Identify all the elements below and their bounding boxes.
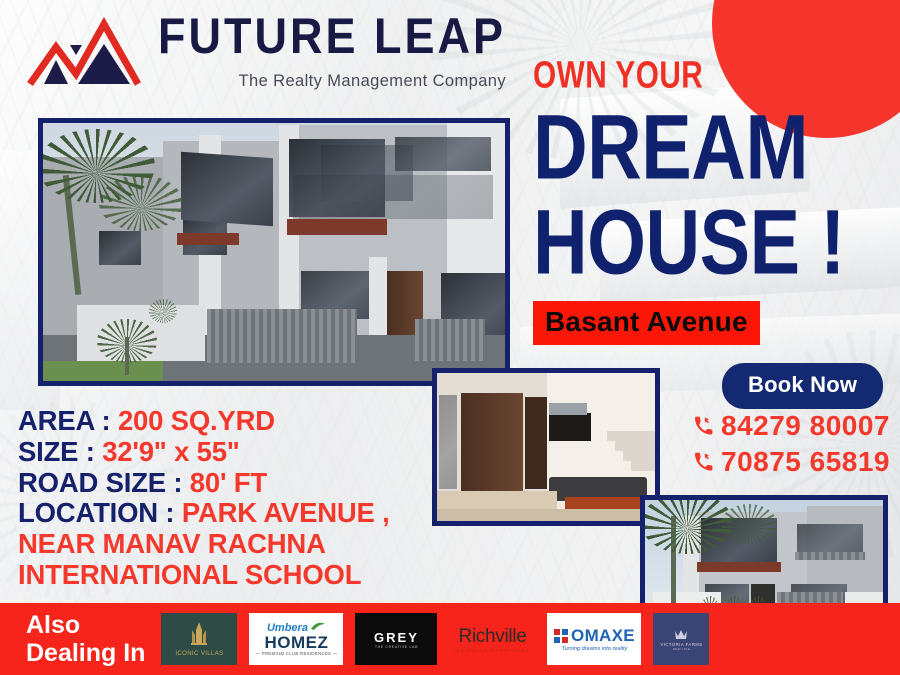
detail-label: SIZE : [18, 436, 95, 467]
phone-handset-icon [694, 451, 713, 473]
detail-row-location: LOCATION : PARK AVENUE , [18, 498, 390, 529]
detail-value: 32'9" x 55" [102, 436, 239, 467]
real-estate-advertisement-poster: FUTURE LEAP The Realty Management Compan… [0, 0, 900, 675]
omaxe-squares-icon [554, 629, 568, 643]
phone-number-row[interactable]: 70875 65819 [694, 444, 890, 480]
location-line-3: INTERNATIONAL SCHOOL [18, 560, 390, 591]
partner-logo-richville[interactable]: Richville WE BUILD HAPPINESS [449, 613, 535, 665]
partner-name: HOMEZ [265, 634, 329, 651]
detail-row-area: AREA : 200 SQ.YRD [18, 406, 390, 437]
also-dealing-in-label: Also Dealing In [26, 611, 145, 667]
brand-tagline: The Realty Management Company [158, 73, 506, 90]
partner-logo-victoria-farms[interactable]: VICTORIA FARMS NEW LIFE [653, 613, 709, 665]
partner-tagline: WE BUILD HAPPINESS [455, 648, 530, 653]
property-details: AREA : 200 SQ.YRD SIZE : 32'9" x 55" ROA… [18, 406, 390, 591]
hero-eyebrow: OWN YOUR [533, 56, 869, 94]
also-dealing-line-2: Dealing In [26, 639, 145, 667]
also-dealing-line-1: Also [26, 611, 145, 639]
phone-number-row[interactable]: 84279 80007 [694, 408, 890, 444]
project-name-band: Basant Avenue [533, 301, 760, 345]
project-name: Basant Avenue [545, 306, 748, 337]
iconic-villas-tower-icon [186, 621, 212, 649]
partner-logo-umbera-homez[interactable]: Umbera HOMEZ — PREMIUM CLUB RESIDENCES — [249, 613, 343, 665]
partner-name: ICONIC VILLAS [175, 651, 223, 657]
book-now-button[interactable]: Book Now [722, 363, 883, 409]
partner-name: OMAXE [571, 626, 635, 646]
partner-logo-grey[interactable]: GREY THE CREATIVE LAB [355, 613, 437, 665]
partner-tagline: NEW LIFE [673, 647, 690, 651]
brand-logo: FUTURE LEAP The Realty Management Compan… [26, 14, 506, 92]
detail-label: LOCATION : [18, 497, 174, 528]
detail-value: 200 SQ.YRD [118, 405, 275, 436]
detail-value: 80' FT [190, 467, 267, 498]
partner-name: GREY [374, 630, 419, 645]
phone-number-value: 84279 80007 [721, 408, 890, 444]
victoria-crown-icon [673, 628, 689, 642]
exterior-row-houses-photo [38, 118, 510, 386]
hero-line-1: DREAM [533, 104, 873, 191]
hero-headline: OWN YOUR DREAM HOUSE ! Basant Avenue [533, 56, 883, 345]
partner-logo-strip: ICONIC VILLAS Umbera HOMEZ — PREMIUM CLU… [161, 613, 709, 665]
phone-handset-icon [694, 415, 713, 437]
partner-logo-omaxe[interactable]: OMAXE Turning dreams into reality [547, 613, 641, 665]
partner-tagline: Turning dreams into reality [562, 646, 628, 652]
phone-numbers: 84279 80007 70875 65819 [694, 408, 890, 480]
detail-label: AREA : [18, 405, 111, 436]
brand-name: FUTURE LEAP [158, 11, 506, 61]
partner-tagline: THE CREATIVE LAB [375, 645, 418, 649]
tree-icon [310, 622, 326, 632]
mountain-peaks-logo-icon [26, 14, 144, 92]
detail-value: PARK AVENUE , [182, 497, 390, 528]
partner-tagline: — PREMIUM CLUB RESIDENCES — [256, 651, 338, 656]
partners-footer-bar: Also Dealing In ICONIC VILLAS Umbera [0, 603, 900, 675]
hero-line-2: HOUSE ! [533, 199, 873, 286]
partner-logo-iconic-villas[interactable]: ICONIC VILLAS [161, 613, 237, 665]
detail-label: ROAD SIZE : [18, 467, 182, 498]
detail-row-road-size: ROAD SIZE : 80' FT [18, 468, 390, 499]
phone-number-value: 70875 65819 [721, 444, 890, 480]
location-line-2: NEAR MANAV RACHNA [18, 529, 390, 560]
detail-row-size: SIZE : 32'9" x 55" [18, 437, 390, 468]
interior-living-room-photo [432, 368, 660, 526]
partner-name: Richville [458, 626, 526, 648]
